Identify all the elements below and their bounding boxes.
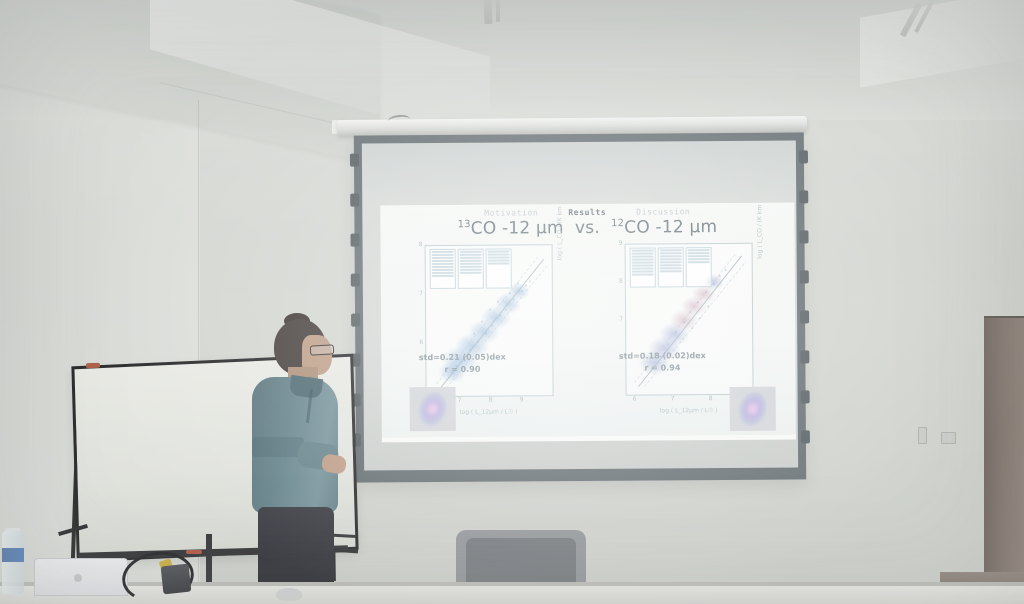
x-tick: 8	[706, 395, 716, 402]
slide-title-vs: vs.	[575, 218, 600, 238]
slide-title: 13CO -12 µm vs. 12CO -12 µm	[380, 217, 794, 240]
bottle-label	[2, 548, 24, 562]
presenter-sleeve	[252, 437, 304, 457]
legend-column	[686, 247, 712, 287]
screen-tensioner-tab	[799, 150, 808, 163]
screen-tensioner-tab	[799, 190, 808, 203]
y-tick: 7	[415, 290, 423, 297]
projected-slide: Motivation Results Discussion 13CO -12 µ…	[380, 203, 796, 438]
laptop-logo-icon	[74, 574, 82, 582]
whiteboard-marker	[186, 550, 202, 554]
power-adapter[interactable]	[161, 564, 192, 595]
screen-surface: Motivation Results Discussion 13CO -12 µ…	[362, 140, 798, 470]
galaxy-thumbnail-left	[410, 387, 456, 431]
room-photo-scene: Motivation Results Discussion 13CO -12 µ…	[0, 0, 1024, 604]
y-tick: 6	[415, 339, 423, 346]
legend-column	[486, 248, 512, 288]
plot-legend-left	[430, 248, 512, 289]
door-right[interactable]	[984, 318, 1024, 604]
slide-panels: 8 7 6	[381, 241, 796, 434]
y-axis-label-right: log ( L_CO / (K km s⁻¹ pc²) )	[756, 203, 764, 259]
y-tick: 7	[615, 316, 623, 323]
screen-tensioner-tab	[800, 270, 809, 283]
legend-column	[630, 247, 656, 287]
plot-legend-right	[630, 247, 712, 288]
y-tick: 8	[615, 278, 623, 285]
slide-title-sup-13: 13	[458, 219, 471, 230]
x-tick: 8	[486, 397, 496, 404]
stat-std-right: std=0.18 (0.02)dex	[599, 351, 725, 361]
y-tick: 9	[615, 240, 623, 247]
light-switch[interactable]	[918, 427, 927, 444]
legend-column	[658, 247, 684, 287]
screen-tensioner-tab	[350, 194, 359, 207]
stat-r-left: r = 0.90	[399, 364, 525, 374]
stat-std-left: std=0.21 (0.05)dex	[399, 352, 525, 362]
water-bottle[interactable]	[2, 531, 24, 594]
slide-title-sup-12: 12	[611, 218, 624, 229]
wall-socket[interactable]	[941, 432, 956, 444]
slide-title-mid-1: CO -12 µm	[471, 218, 564, 239]
ceiling-fixture-icon	[484, 0, 493, 24]
screen-tensioner-tab	[350, 154, 359, 167]
screen-tensioner-tab	[801, 430, 810, 443]
stand-pole	[206, 534, 212, 586]
screen-tensioner-tab	[800, 310, 809, 323]
whiteboard-marker	[86, 363, 100, 368]
screen-tensioner-tab	[801, 390, 810, 403]
screen-tensioner-tab	[799, 230, 808, 243]
chart-panel-left: 8 7 6	[399, 242, 578, 429]
x-tick: 9	[517, 396, 527, 403]
chart-panel-right: 9 8 7 6	[599, 241, 778, 428]
presenter	[240, 315, 360, 604]
scatter-plot-right	[625, 243, 754, 396]
legend-column	[430, 249, 456, 289]
screen-tensioner-tab	[350, 234, 359, 247]
scatter-plot-left	[425, 244, 554, 397]
x-tick: 7	[668, 395, 678, 402]
slide-nav-motivation: Motivation	[484, 208, 538, 217]
mouse[interactable]	[276, 588, 302, 601]
screen-tensioner-tab	[351, 274, 360, 287]
x-tick: 6	[630, 396, 640, 403]
x-tick: 7	[455, 397, 465, 404]
y-tick: 8	[415, 241, 423, 248]
glasses-icon	[310, 344, 334, 355]
slide-nav-results: Results	[568, 208, 606, 217]
screen-tensioner-tab	[800, 350, 809, 363]
galaxy-thumbnail-right	[730, 387, 776, 431]
y-axis-label-left: log ( L_CO / (K km s⁻¹ pc²) )	[556, 203, 564, 261]
ceiling-fixture-icon	[496, 0, 500, 22]
stat-r-right: r = 0.94	[599, 363, 725, 373]
projection-screen: Motivation Results Discussion 13CO -12 µ…	[354, 132, 806, 482]
slide-title-mid-2: CO -12 µm	[624, 217, 717, 238]
legend-column	[458, 249, 484, 289]
slide-nav-discussion: Discussion	[636, 207, 690, 216]
